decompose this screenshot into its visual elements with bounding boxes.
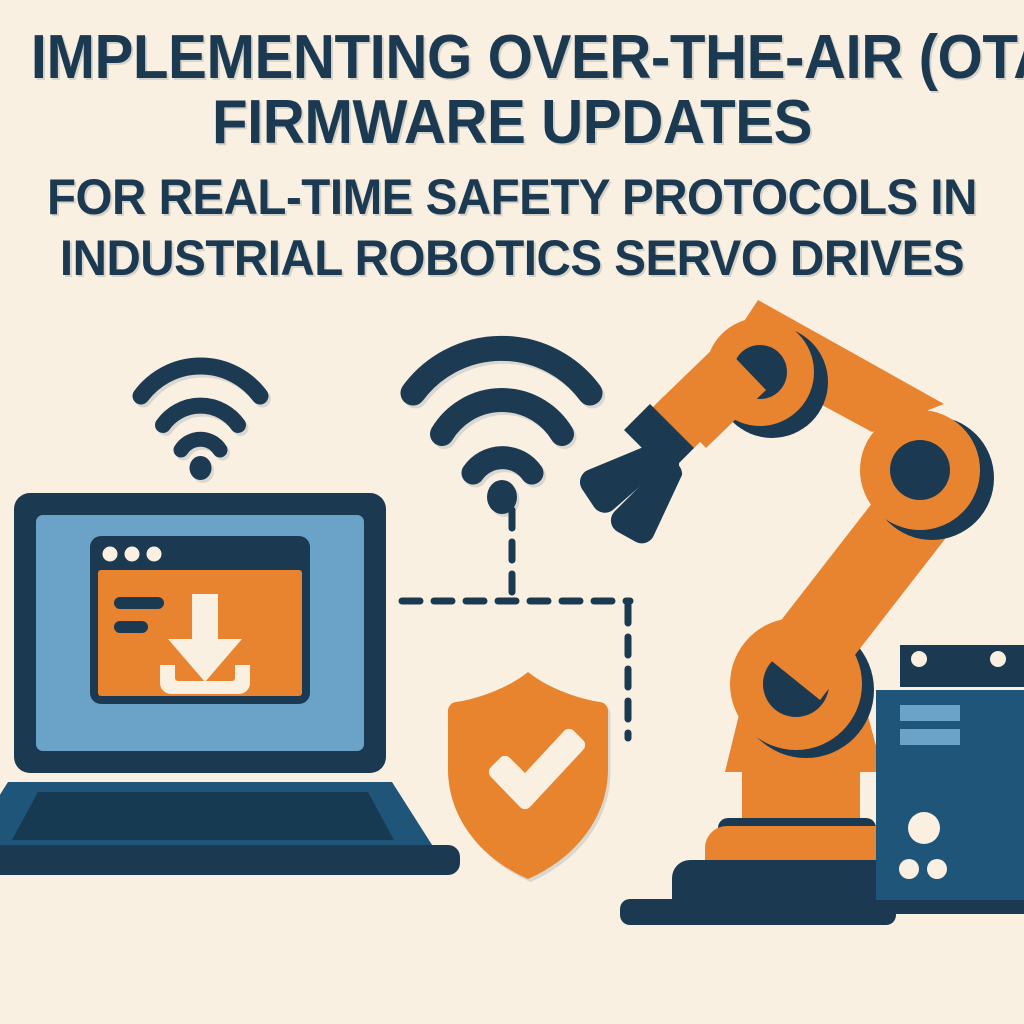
window-dot-1[interactable]	[103, 547, 118, 562]
servo-led-large[interactable]	[908, 812, 940, 844]
illustration-stage	[0, 0, 1024, 1024]
laptop-trackpad[interactable]	[150, 810, 246, 832]
servo-body-cap	[876, 690, 1024, 704]
window-text-bar-long	[114, 597, 164, 609]
servo-body-foot	[876, 888, 1024, 902]
servo-led-small-1[interactable]	[899, 859, 919, 879]
robot-joint-elbow-hub	[890, 440, 950, 500]
laptop-base-front-edge	[0, 845, 460, 875]
wifi-arc-outer	[413, 348, 590, 393]
laptop-firmware-download[interactable]	[0, 493, 460, 875]
robot-base-step-1-orange	[742, 770, 860, 818]
robot-base-floor-plate	[620, 899, 896, 925]
wifi-arc-middle	[442, 400, 562, 434]
window-dot-2[interactable]	[125, 547, 140, 562]
security-shield-verified[interactable]	[448, 672, 608, 879]
servo-mount-hole-left	[911, 651, 927, 667]
wifi-arc-middle	[163, 406, 238, 425]
window-dot-3[interactable]	[147, 547, 162, 562]
servo-indicator-bar-1	[900, 705, 960, 721]
servo-drive-cabinet[interactable]	[860, 645, 1024, 914]
robot-base-step-4-cap	[672, 860, 880, 878]
servo-indicator-bar-2	[900, 729, 960, 745]
servo-body	[876, 690, 1024, 902]
servo-floor-bar	[860, 900, 1024, 914]
wifi-arc-outer	[141, 366, 260, 396]
poster-canvas: IMPLEMENTING OVER-THE-AIR (OTA) FIRMWARE…	[0, 0, 1024, 1024]
robot-base-step-3-cap	[705, 826, 880, 848]
servo-mount-hole-right	[990, 651, 1006, 667]
wifi-signal-laptop	[141, 366, 260, 480]
wifi-arc-inner	[473, 458, 532, 473]
wifi-center-dot	[190, 456, 212, 480]
wifi-arc-inner	[181, 439, 220, 450]
servo-led-small-2[interactable]	[927, 859, 947, 879]
wifi-signal-robot	[413, 348, 590, 514]
wifi-center-dot	[487, 480, 517, 514]
window-text-bar-short	[114, 621, 148, 633]
